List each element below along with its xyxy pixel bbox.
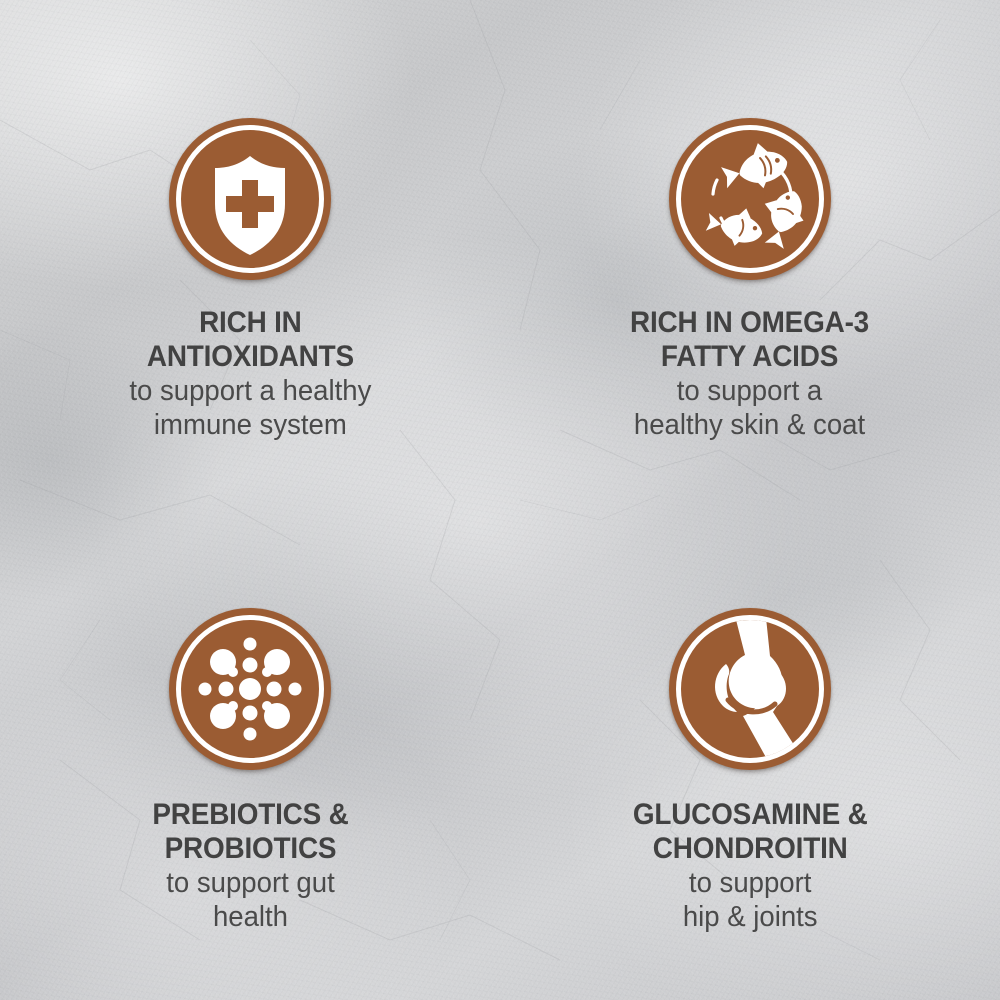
badge-antioxidants	[169, 118, 331, 280]
caption-antioxidants: RICH IN ANTIOXIDANTS to support a health…	[123, 306, 378, 443]
feature-omega3: RICH IN OMEGA-3 FATTY ACIDS to support a…	[500, 0, 1000, 500]
caption-omega3: RICH IN OMEGA-3 FATTY ACIDS to support a…	[621, 306, 878, 443]
caption-probiotics: PREBIOTICS & PROBIOTICS to support gut h…	[145, 798, 356, 935]
feature-glucosamine: GLUCOSAMINE & CHONDROITIN to support hip…	[500, 500, 1000, 1000]
headline-omega3: RICH IN OMEGA-3 FATTY ACIDS	[630, 306, 869, 373]
subline-antioxidants: to support a healthy immune system	[129, 375, 371, 443]
probiotic-dots-icon	[169, 608, 331, 770]
feature-probiotics: PREBIOTICS & PROBIOTICS to support gut h…	[0, 500, 500, 1000]
bone-joint-icon	[669, 608, 831, 770]
feature-antioxidants: RICH IN ANTIOXIDANTS to support a health…	[0, 0, 500, 500]
badge-glucosamine	[669, 608, 831, 770]
subline-omega3: to support a healthy skin & coat	[628, 375, 872, 443]
subline-glucosamine: to support hip & joints	[630, 867, 870, 935]
headline-glucosamine: GLUCOSAMINE & CHONDROITIN	[633, 798, 868, 865]
shield-plus-icon	[169, 118, 331, 280]
headline-antioxidants: RICH IN ANTIOXIDANTS	[132, 306, 369, 373]
badge-omega3	[669, 118, 831, 280]
headline-probiotics: PREBIOTICS & PROBIOTICS	[152, 798, 348, 865]
subline-probiotics: to support gut health	[150, 867, 350, 935]
features-grid: RICH IN ANTIOXIDANTS to support a health…	[0, 0, 1000, 1000]
three-fish-icon	[669, 118, 831, 280]
caption-glucosamine: GLUCOSAMINE & CHONDROITIN to support hip…	[624, 798, 876, 935]
badge-probiotics	[169, 608, 331, 770]
